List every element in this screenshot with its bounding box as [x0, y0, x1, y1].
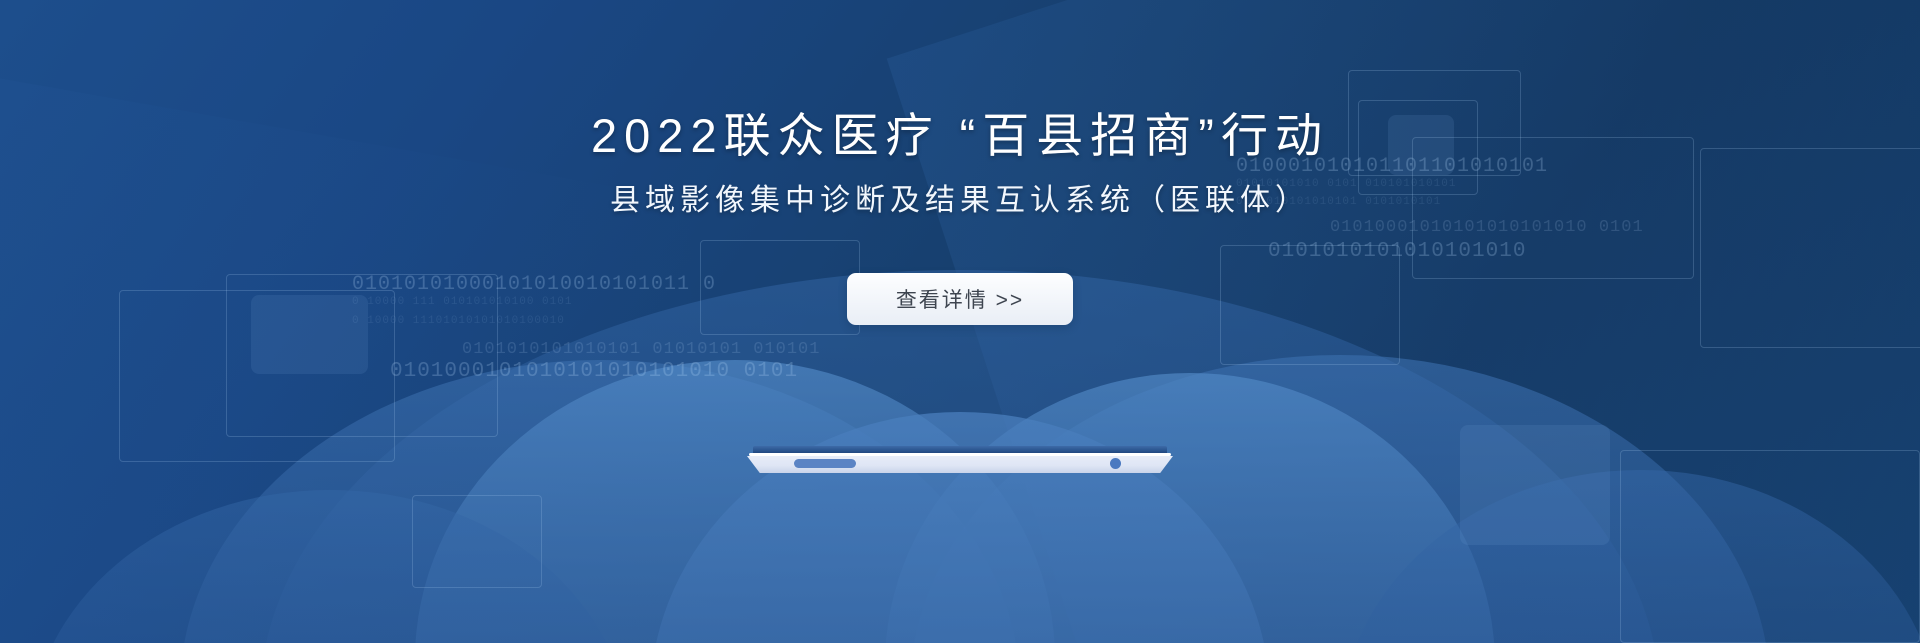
page-subtitle: 县域影像集中诊断及结果互认系统（医联体） — [0, 181, 1920, 221]
page-title: 2022联众医疗 “百县招商”行动 — [0, 107, 1920, 165]
laptop-hinge — [749, 453, 1171, 456]
power-indicator-icon — [1110, 458, 1121, 469]
decorative-rect-right-e — [1620, 450, 1920, 643]
view-details-button[interactable]: 查看详情 >> — [847, 273, 1073, 325]
binary-decoration-3: 0101010101010101 01010101 010101 — [462, 340, 820, 359]
promo-banner: 01010101000101010010101011 0 0 10000 111… — [0, 0, 1920, 643]
trackpad-icon — [794, 459, 856, 468]
decorative-fill-right-b — [1460, 425, 1610, 545]
decorative-rect-bottom-left — [412, 495, 542, 588]
laptop-lid-edge — [753, 446, 1167, 453]
laptop-base-illustration — [747, 446, 1173, 476]
cta-container: 查看详情 >> — [0, 273, 1920, 325]
banner-content: 2022联众医疗 “百县招商”行动 县域影像集中诊断及结果互认系统（医联体） 查… — [0, 0, 1920, 325]
